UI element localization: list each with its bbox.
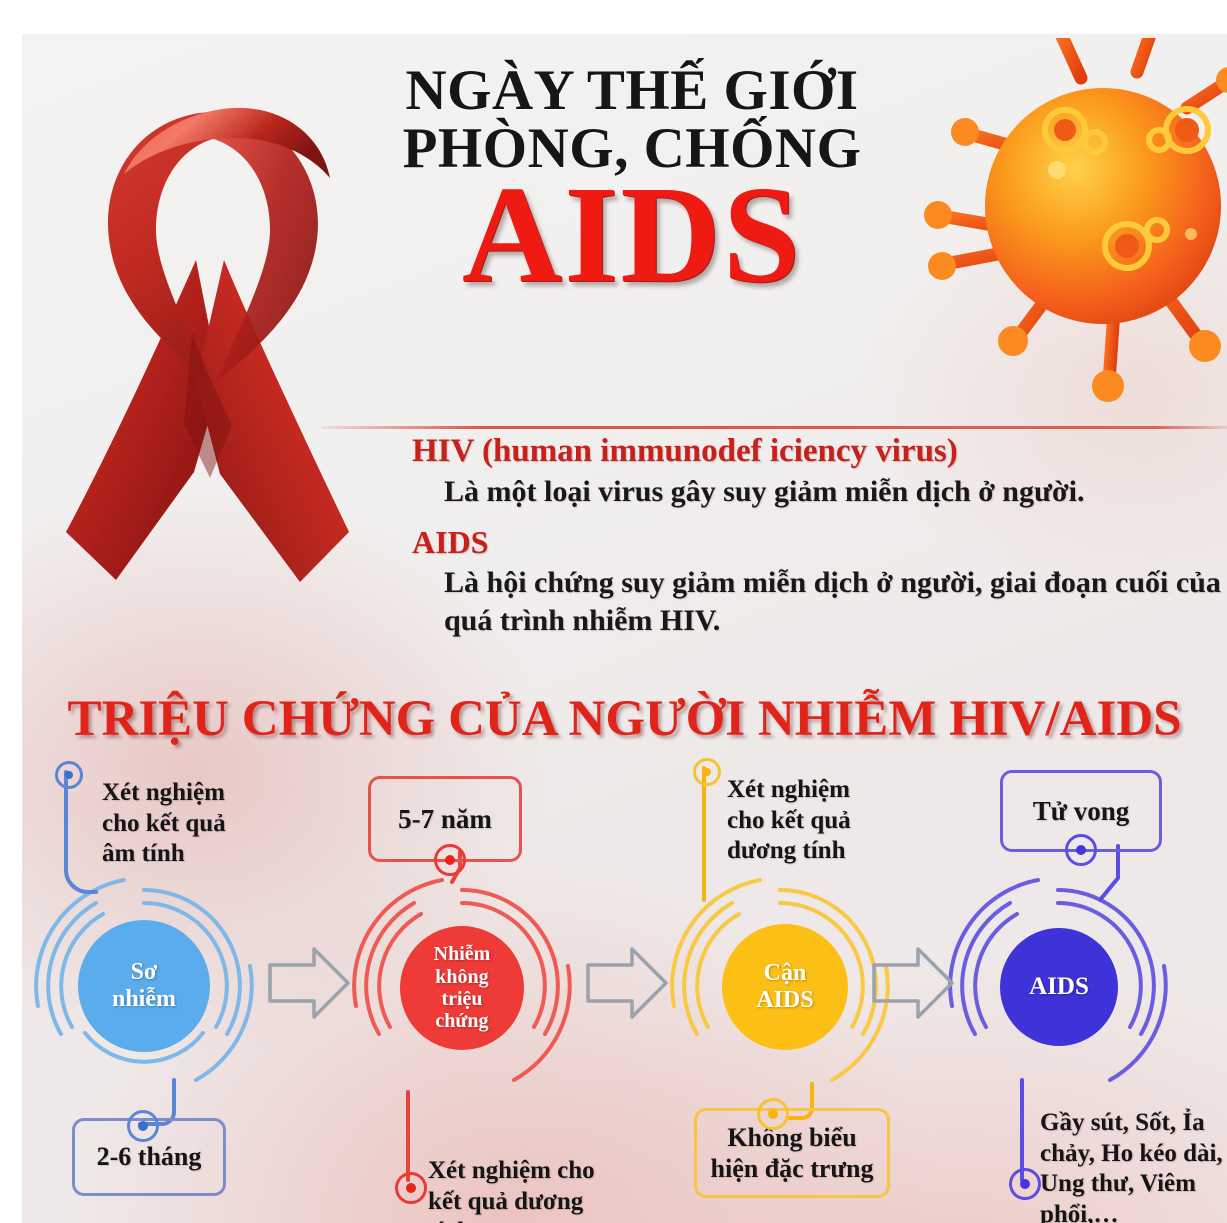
stage2-note-below: Xét nghiệm cho kết quả dương tính <box>428 1156 658 1223</box>
definition-term-aids: AIDS <box>412 524 1227 562</box>
headline-line-1: NGÀY THẾ GIỚI <box>322 62 942 120</box>
infographic-poster: NGÀY THẾ GIỚI PHÒNG, CHỐNG AIDS HIV (hum… <box>22 34 1227 1223</box>
stage-core-label-can-aids: Cận AIDS <box>756 960 813 1014</box>
stage3-note-above: Xét nghiệm cho kết quả dương tính <box>727 775 917 867</box>
node-dot-stage2-note[interactable] <box>395 1172 427 1204</box>
hiv-virus-icon <box>905 38 1227 438</box>
stage-core-so-nhiem[interactable]: Sơ nhiễm <box>78 920 210 1052</box>
stage1-note-above: Xét nghiệm cho kết quả âm tính <box>102 778 277 870</box>
disease-progression-flow: Sơ nhiễm Xét nghiệm cho kết quả âm tính … <box>22 740 1227 1223</box>
stage3-chip-symptom[interactable]: Không biểu hiện đặc trưng <box>694 1108 890 1198</box>
node-dot-stage4-chip[interactable] <box>1065 834 1097 866</box>
poster-headline: NGÀY THẾ GIỚI PHÒNG, CHỐNG AIDS <box>322 62 942 300</box>
node-dot-stage2-chip[interactable] <box>434 844 466 876</box>
node-dot-stage3-chip[interactable] <box>757 1098 789 1130</box>
arrow-right-icon <box>270 949 952 1017</box>
stage-core-label-so-nhiem: Sơ nhiễm <box>112 959 176 1013</box>
definition-body-aids: Là hội chứng suy giảm miễn dịch ở người,… <box>412 564 1227 640</box>
header-divider <box>322 426 1227 429</box>
stage4-note-below: Gầy sút, Sốt, Ỉa chảy, Ho kéo dài, Ung t… <box>1040 1108 1227 1223</box>
node-dot-stage1-chip[interactable] <box>127 1110 159 1142</box>
definitions-block: HIV (human immunodef iciency virus) Là m… <box>412 432 1227 640</box>
node-dot-stage4-note[interactable] <box>1009 1168 1041 1200</box>
node-dot-stage1-note[interactable] <box>55 761 83 789</box>
stage-core-aids[interactable]: AIDS <box>1000 928 1118 1046</box>
headline-acronym: AIDS <box>322 172 942 300</box>
node-dot-stage3-note[interactable] <box>693 758 721 786</box>
stage-core-nhiem-khong-trieu-chung[interactable]: Nhiễm không triệu chứng <box>400 926 524 1050</box>
definition-term-hiv: HIV (human immunodef iciency virus) <box>412 432 1227 471</box>
stage-core-can-aids[interactable]: Cận AIDS <box>722 924 848 1050</box>
stage-core-label-aids: AIDS <box>1029 973 1089 1001</box>
definition-body-hiv: Là một loại virus gây suy giảm miễn dịch… <box>412 473 1227 511</box>
stage-core-label-nhiem-khong-trieu-chung: Nhiễm không triệu chứng <box>434 943 491 1033</box>
